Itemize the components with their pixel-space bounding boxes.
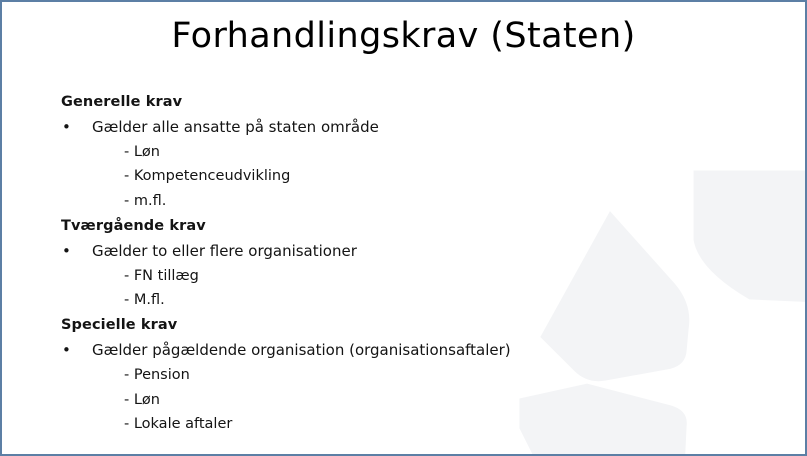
section-heading-specielle-krav: Specielle krav: [59, 313, 759, 338]
sub-item: - M.fl.: [59, 288, 759, 313]
slide-body: Generelle krav • Gælder alle ansatte på …: [59, 90, 759, 437]
bullet-dot-icon: •: [62, 239, 71, 264]
bullet-item-label: Gælder alle ansatte på staten område: [92, 118, 379, 136]
sub-item: - m.fl.: [59, 189, 759, 214]
section-heading-tvaergaaende-krav: Tværgående krav: [59, 214, 759, 239]
bullet-dot-icon: •: [62, 115, 71, 140]
page-title: Forhandlingskrav (Staten): [2, 16, 805, 56]
slide-content: Forhandlingskrav (Staten) Generelle krav…: [2, 2, 805, 454]
bullet-item: • Gælder alle ansatte på staten område: [59, 115, 759, 140]
bullet-item: • Gælder pågældende organisation (organi…: [59, 338, 759, 363]
sub-item: - Kompetenceudvikling: [59, 164, 759, 189]
sub-item: - Lokale aftaler: [59, 412, 759, 437]
bullet-item-label: Gælder pågældende organisation (organisa…: [92, 341, 511, 359]
bullet-item: • Gælder to eller flere organisationer: [59, 239, 759, 264]
sub-item: - Løn: [59, 140, 759, 165]
section-heading-generelle-krav: Generelle krav: [59, 90, 759, 115]
bullet-item-label: Gælder to eller flere organisationer: [92, 242, 357, 260]
presentation-slide: Forhandlingskrav (Staten) Generelle krav…: [0, 0, 807, 456]
sub-item: - Pension: [59, 363, 759, 388]
sub-item: - Løn: [59, 388, 759, 413]
bullet-dot-icon: •: [62, 338, 71, 363]
sub-item: - FN tillæg: [59, 264, 759, 289]
